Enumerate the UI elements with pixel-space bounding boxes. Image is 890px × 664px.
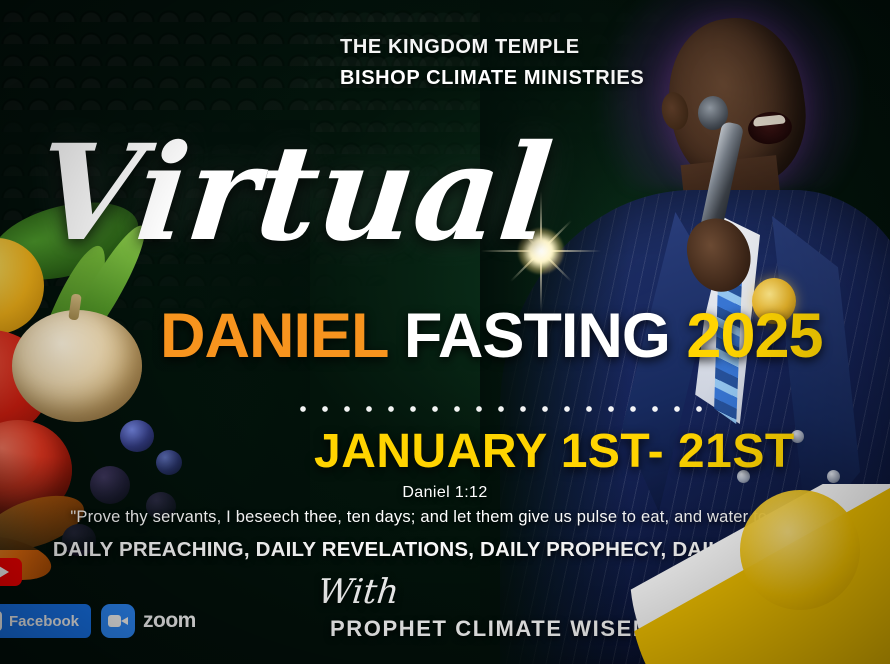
dotted-divider xyxy=(292,404,712,414)
ministry-header: THE KINGDOM TEMPLE BISHOP CLIMATE MINIST… xyxy=(340,32,644,94)
page-title: DANIEL FASTING 2025 xyxy=(160,300,823,372)
zoom-label: zoom xyxy=(143,609,196,633)
facebook-button[interactable]: f Facebook xyxy=(0,604,91,638)
speaker-name: PROPHET CLIMATE WISEMAN xyxy=(330,616,688,642)
ministry-name-line2: BISHOP CLIMATE MINISTRIES xyxy=(340,63,644,94)
title-word-year: 2025 xyxy=(686,301,822,371)
berry-shape xyxy=(120,420,154,452)
title-word-fasting: FASTING xyxy=(404,301,670,371)
title-word-daniel: DANIEL xyxy=(160,301,387,371)
virtual-script-word: Virtual xyxy=(31,128,565,260)
zoom-button[interactable]: zoom xyxy=(101,604,196,638)
facebook-label: Facebook xyxy=(9,613,79,630)
event-date: JANUARY 1ST- 21ST xyxy=(314,424,795,479)
scripture-reference: Daniel 1:12 xyxy=(0,484,890,502)
onion-shape xyxy=(12,310,142,422)
zoom-camera-icon xyxy=(101,604,135,638)
with-label: With xyxy=(316,572,401,612)
suit-button-3 xyxy=(827,470,840,483)
social-links-bar: f Facebook zoom xyxy=(0,604,196,638)
ministry-name-line1: THE KINGDOM TEMPLE xyxy=(340,32,644,63)
yellow-circle-accent xyxy=(740,490,860,610)
facebook-icon: f xyxy=(0,611,2,631)
youtube-play-icon[interactable] xyxy=(0,558,22,586)
flyer-poster: THE KINGDOM TEMPLE BISHOP CLIMATE MINIST… xyxy=(0,0,890,664)
berry-shape-2 xyxy=(156,450,182,475)
